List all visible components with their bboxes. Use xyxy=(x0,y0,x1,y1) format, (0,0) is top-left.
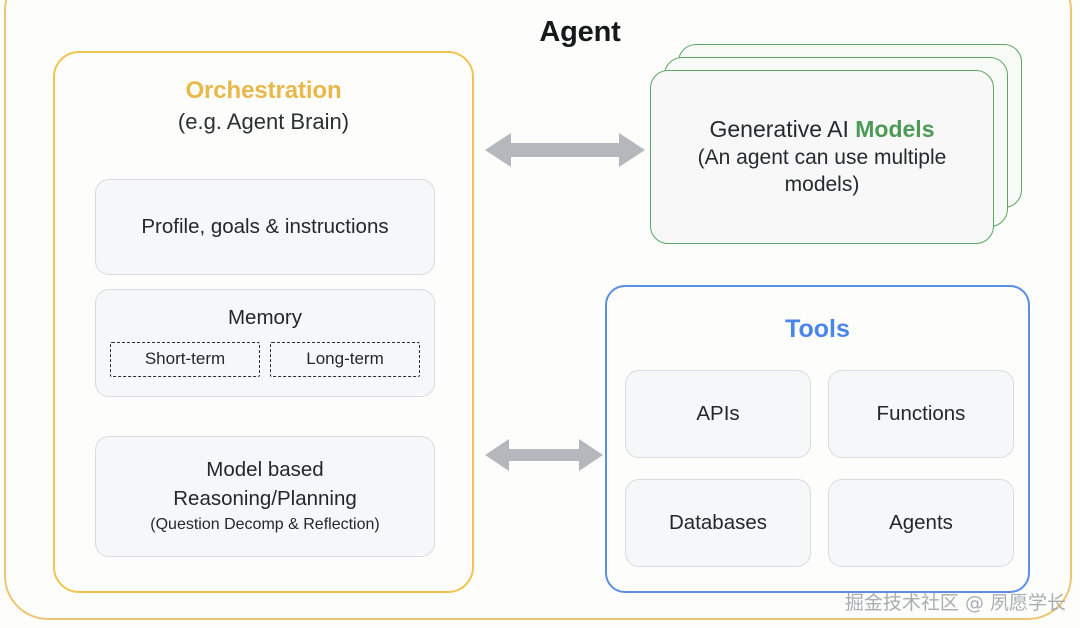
tool-item-databases: Databases xyxy=(625,479,811,567)
orchestration-panel: Orchestration (e.g. Agent Brain) Profile… xyxy=(53,51,474,593)
generative-ai-models-stack: Generative AI Models (An agent can use m… xyxy=(650,44,1022,244)
memory-types-row: Short-term Long-term xyxy=(96,342,434,377)
arrow-orchestration-to-tools-icon xyxy=(485,435,603,480)
models-title: Generative AI Models xyxy=(710,116,935,143)
memory-label: Memory xyxy=(228,306,302,330)
memory-card: Memory Short-term Long-term xyxy=(95,289,435,397)
diagram-canvas: Agent Orchestration (e.g. Agent Brain) P… xyxy=(0,0,1080,628)
models-title-prefix: Generative AI xyxy=(710,116,856,142)
tools-panel: Tools APIs Functions Databases Agents xyxy=(605,285,1030,593)
model-based-reasoning-card: Model based Reasoning/Planning (Question… xyxy=(95,436,435,557)
reasoning-line-1: Model based xyxy=(206,456,323,483)
reasoning-line-2: Reasoning/Planning xyxy=(173,485,357,512)
profile-goals-instructions-label: Profile, goals & instructions xyxy=(141,215,388,239)
watermark-text: 掘金技术社区 @ 夙愿学长 xyxy=(845,588,1066,615)
models-title-highlight: Models xyxy=(855,116,934,142)
model-card-front: Generative AI Models (An agent can use m… xyxy=(650,70,994,244)
arrow-orchestration-to-models-icon xyxy=(485,128,645,177)
tools-title: Tools xyxy=(607,315,1028,344)
reasoning-line-3: (Question Decomp & Reflection) xyxy=(150,513,379,537)
memory-short-term-box: Short-term xyxy=(110,342,260,377)
tools-grid: APIs Functions Databases Agents xyxy=(625,370,1014,567)
profile-goals-instructions-card: Profile, goals & instructions xyxy=(95,179,435,275)
orchestration-subtitle: (e.g. Agent Brain) xyxy=(55,109,472,135)
models-subtitle: (An agent can use multiple models) xyxy=(651,145,993,199)
tool-item-functions: Functions xyxy=(828,370,1014,458)
memory-long-term-box: Long-term xyxy=(270,342,420,377)
tool-item-agents: Agents xyxy=(828,479,1014,567)
orchestration-title: Orchestration xyxy=(55,77,472,105)
tool-item-apis: APIs xyxy=(625,370,811,458)
